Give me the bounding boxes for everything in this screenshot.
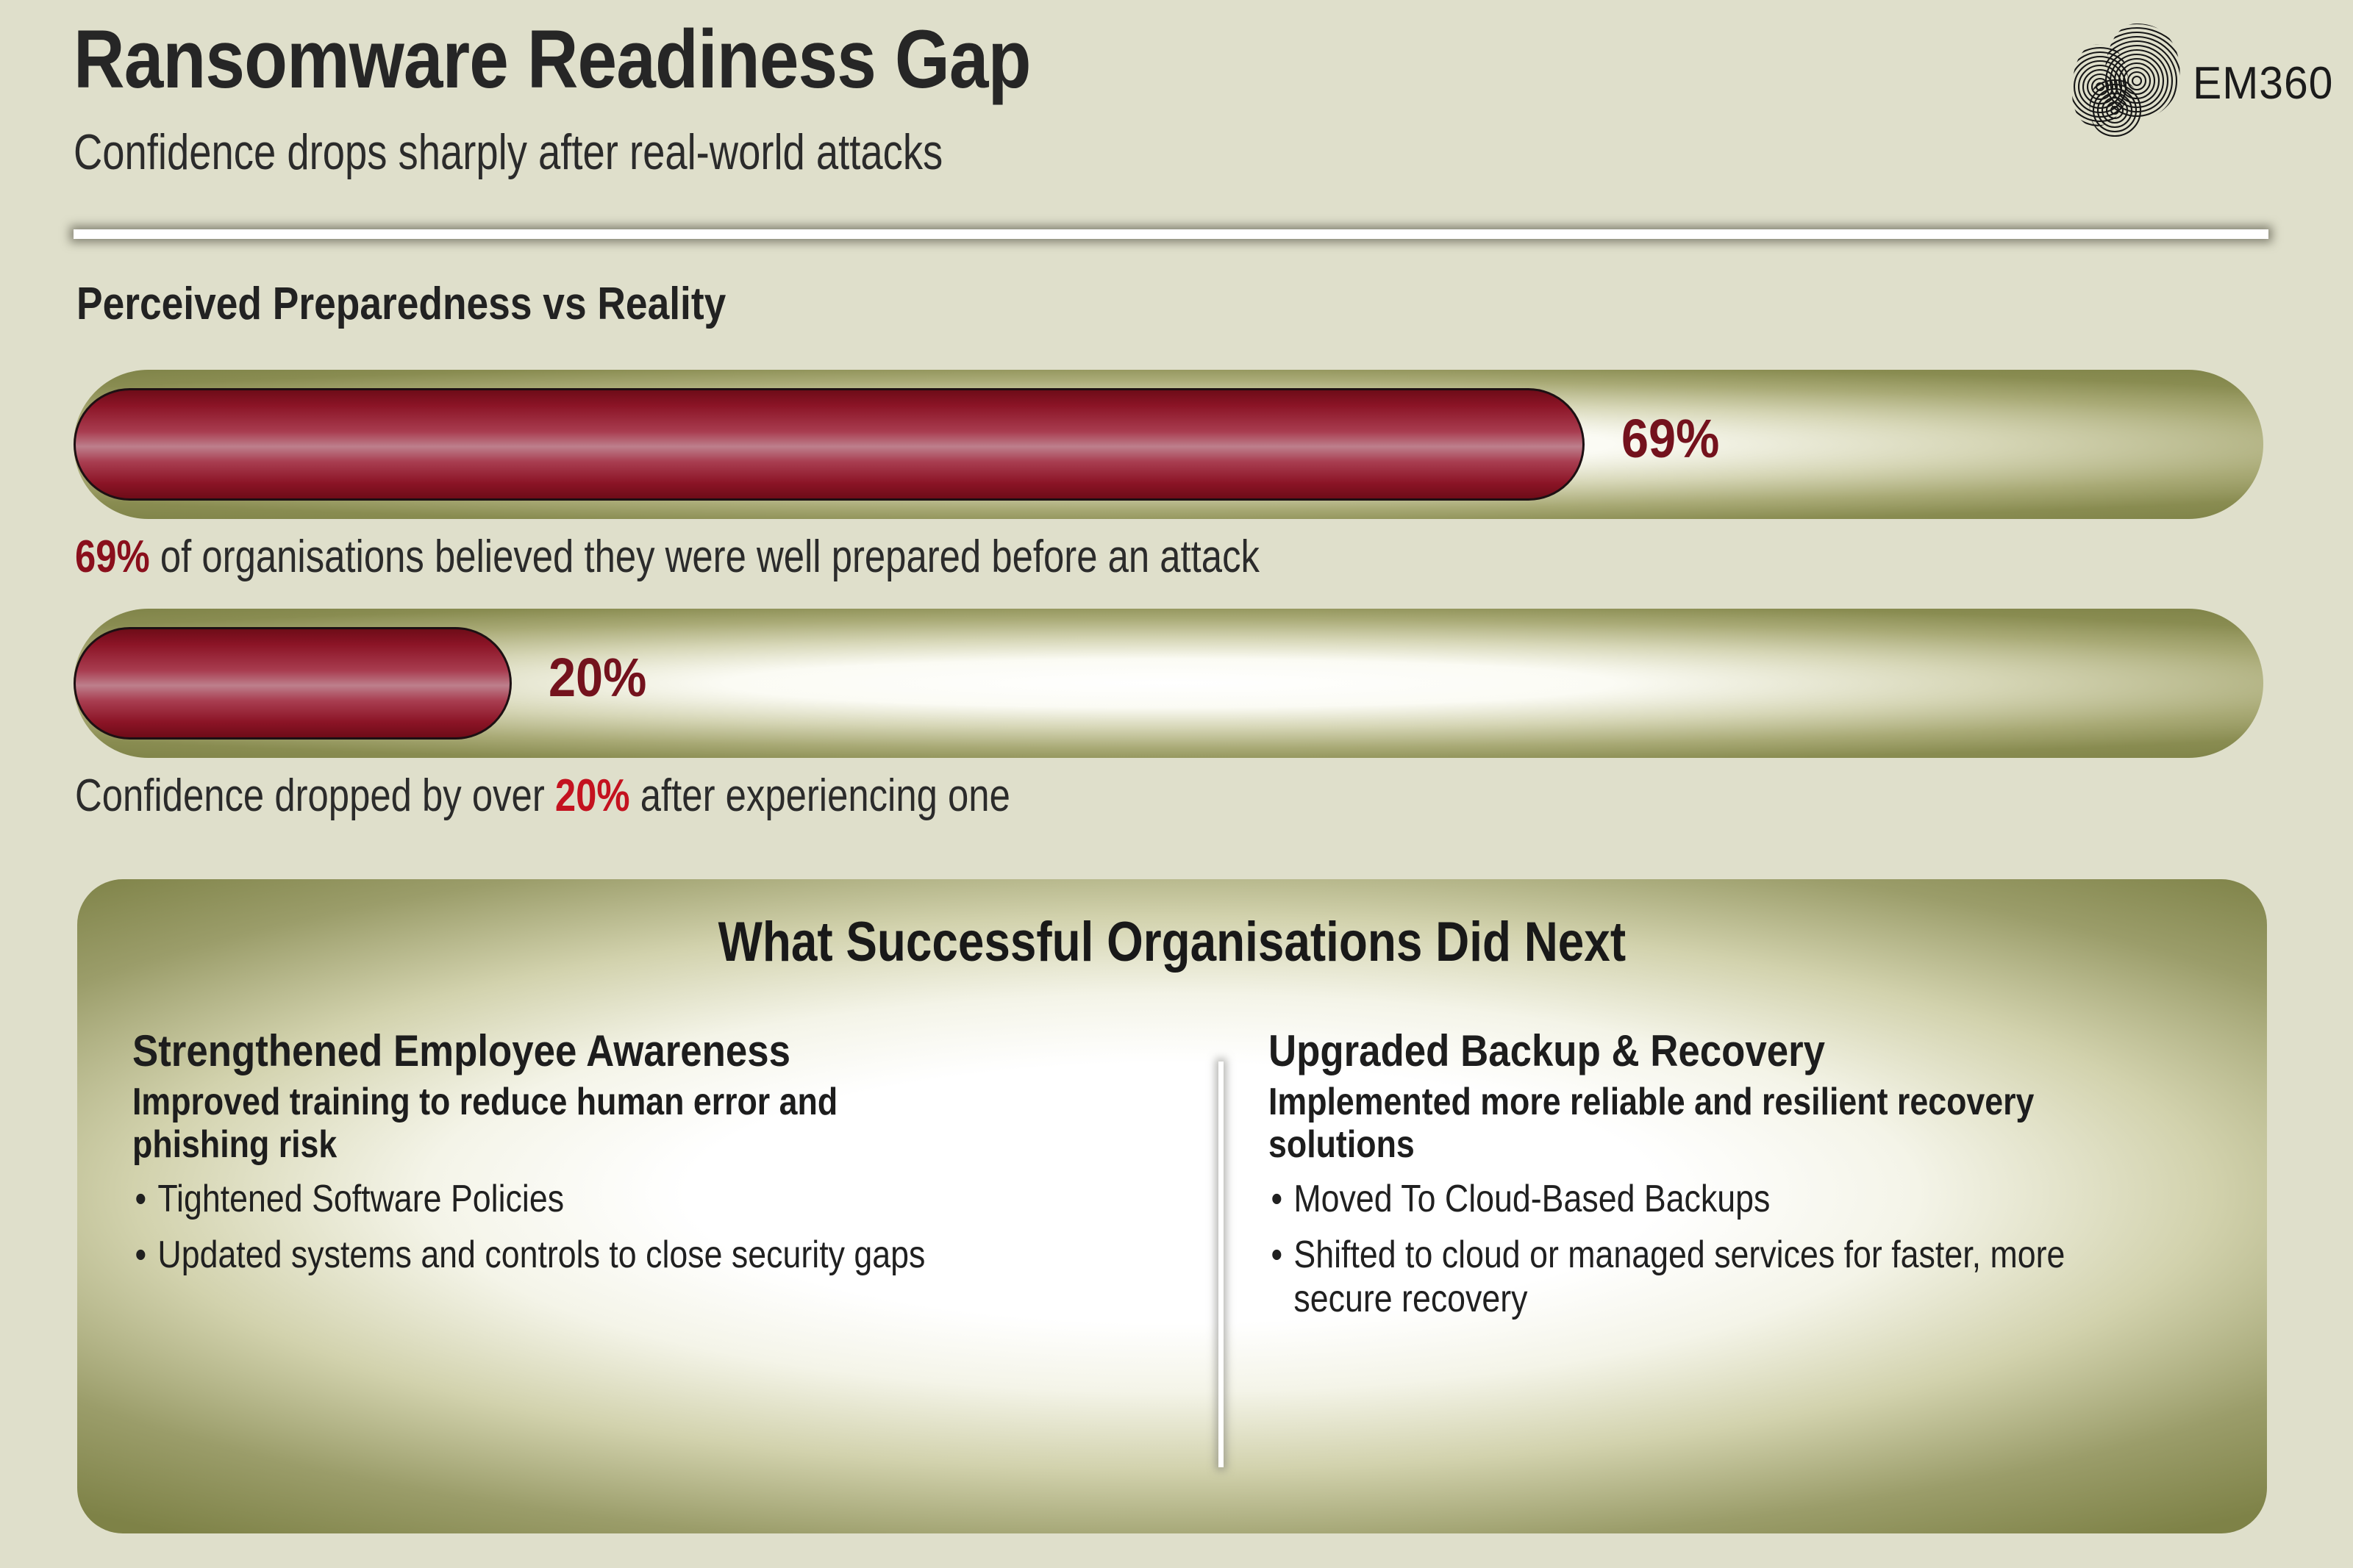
progress-value-1: 69% <box>1621 407 1719 470</box>
bar-caption-1: 69% of organisations believed they were … <box>75 531 1260 583</box>
caption-2-prefix: Confidence dropped by over <box>75 770 555 821</box>
column-right-bullets: •Moved To Cloud-Based Backups •Shifted t… <box>1268 1177 2217 1322</box>
column-left-subheading: Improved training to reduce human error … <box>132 1081 929 1166</box>
progress-track-1 <box>74 370 2263 519</box>
page-title: Ransomware Readiness Gap <box>74 16 1031 103</box>
header: Ransomware Readiness Gap Confidence drop… <box>0 0 2353 221</box>
card-column-left: Strengthened Employee Awareness Improved… <box>132 1028 1059 1289</box>
caption-1-rest: of organisations believed they were well… <box>150 531 1260 582</box>
caption-2-highlight: 20% <box>555 770 630 821</box>
bullet-dot-icon: • <box>1271 1233 1282 1277</box>
bullet-text: Updated systems and controls to close se… <box>157 1234 925 1276</box>
section-title: Perceived Preparedness vs Reality <box>76 278 726 330</box>
progress-track-2 <box>74 609 2263 758</box>
list-item: •Shifted to cloud or managed services fo… <box>1268 1233 2084 1322</box>
column-left-bullets: •Tightened Software Policies •Updated sy… <box>132 1177 1059 1278</box>
caption-2-rest: after experiencing one <box>630 770 1010 821</box>
list-item: •Tightened Software Policies <box>132 1177 929 1221</box>
bullet-dot-icon: • <box>135 1233 146 1277</box>
card-title-text: What Successful Organisations Did Next <box>718 910 1627 974</box>
page-subtitle: Confidence drops sharply after real-worl… <box>74 126 943 179</box>
column-right-heading: Upgraded Backup & Recovery <box>1268 1028 2103 1075</box>
bullet-text: Shifted to cloud or managed services for… <box>1293 1234 2065 1320</box>
column-right-subheading: Implemented more reliable and resilient … <box>1268 1081 2084 1166</box>
bullet-text: Tightened Software Policies <box>157 1178 564 1220</box>
column-left-heading: Strengthened Employee Awareness <box>132 1028 948 1075</box>
infographic-root: Ransomware Readiness Gap Confidence drop… <box>0 0 2353 1568</box>
caption-1-highlight: 69% <box>75 531 150 582</box>
header-divider <box>74 229 2268 239</box>
progress-fill-2 <box>74 627 512 740</box>
column-divider <box>1218 1062 1224 1467</box>
list-item: •Moved To Cloud-Based Backups <box>1268 1177 2084 1221</box>
progress-value-2: 20% <box>549 646 646 709</box>
em360-arcs-icon <box>2066 19 2184 137</box>
list-item: •Updated systems and controls to close s… <box>132 1233 929 1277</box>
bullet-text: Moved To Cloud-Based Backups <box>1293 1178 1770 1220</box>
brand-logo-text: EM360 <box>2193 57 2333 110</box>
card-title: What Successful Organisations Did Next <box>77 910 2267 974</box>
card-column-right: Upgraded Backup & Recovery Implemented m… <box>1268 1028 2217 1333</box>
next-steps-card: What Successful Organisations Did Next S… <box>77 879 2267 1533</box>
bar-caption-2: Confidence dropped by over 20% after exp… <box>75 770 1010 822</box>
bullet-dot-icon: • <box>135 1177 146 1221</box>
bullet-dot-icon: • <box>1271 1177 1282 1221</box>
progress-fill-1 <box>74 388 1585 501</box>
brand-logo: EM360 <box>2066 19 2309 137</box>
